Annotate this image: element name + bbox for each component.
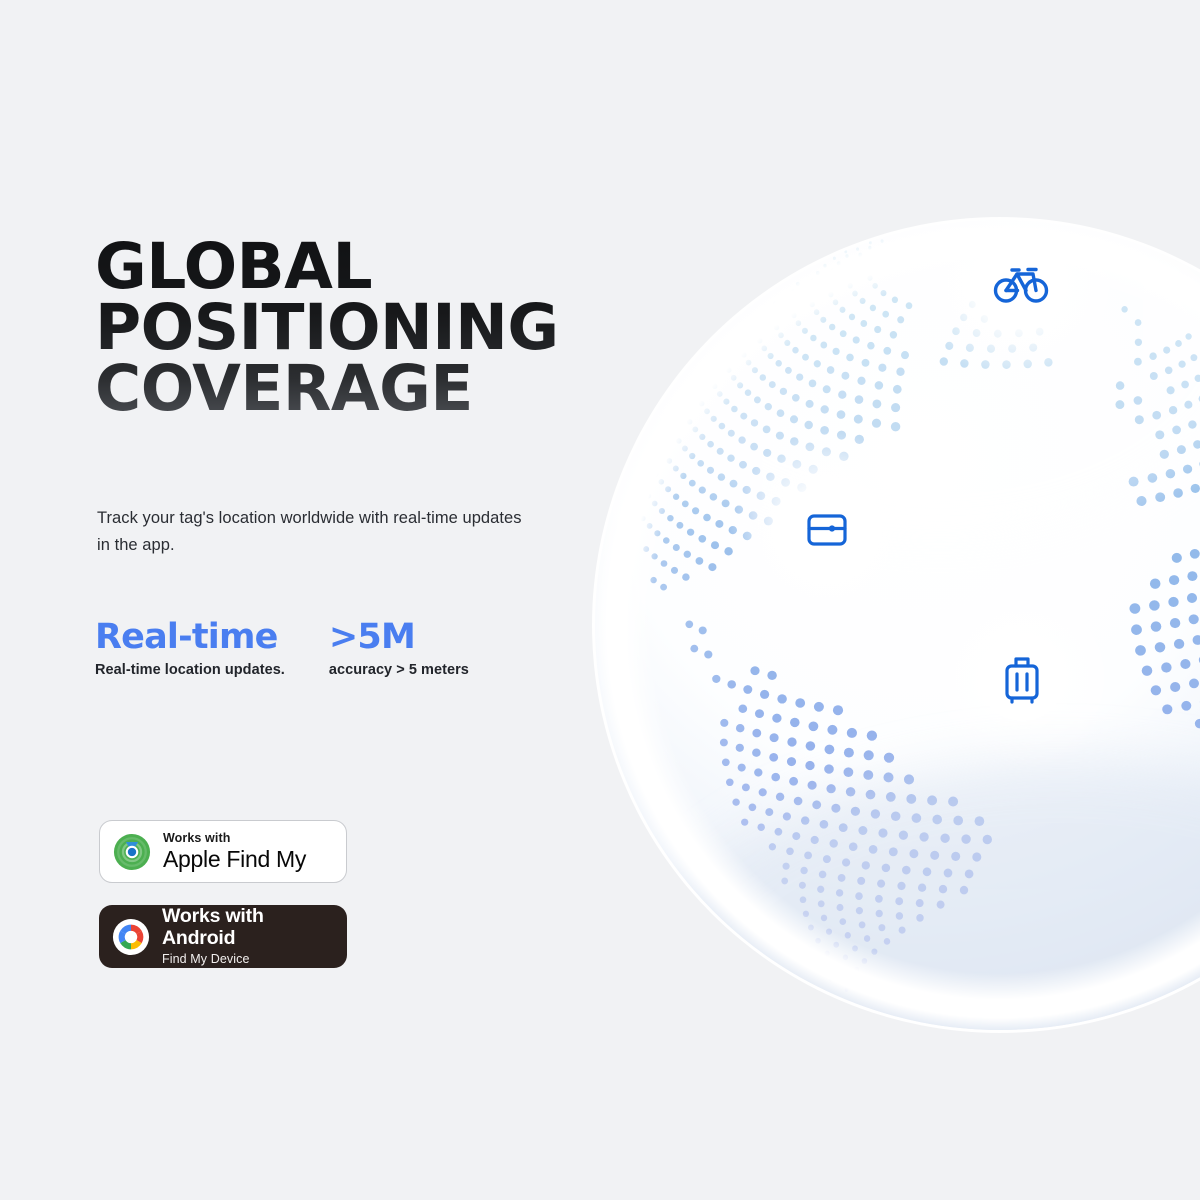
stats-row: Real-time Real-time location updates. >5… (95, 618, 469, 678)
apple-badge-text: Works with Apple Find My (163, 831, 306, 872)
globe-rim-ring (595, 220, 1200, 1030)
suitcase-icon (1007, 659, 1037, 702)
stat-accuracy-value: >5M (329, 618, 469, 657)
globe-outer-glow (592, 217, 1200, 1033)
android-badge-main-line: Works with Android (162, 906, 334, 950)
marker-disc (979, 635, 1065, 721)
stat-accuracy: >5M accuracy > 5 meters (329, 618, 469, 678)
marker-halo-suitcase (926, 582, 1118, 774)
marker-disc (784, 487, 870, 573)
stat-realtime: Real-time Real-time location updates. (95, 618, 285, 678)
apple-badge-main-line: Apple Find My (163, 847, 306, 872)
globe-sphere (595, 220, 1200, 1030)
apple-find-my-radar-icon (113, 833, 151, 871)
headline-line-3: COVERAGE (95, 358, 655, 419)
works-with-apple-find-my-badge[interactable]: Works with Apple Find My (99, 820, 347, 883)
bike-tracker-marker[interactable] (974, 236, 1066, 328)
marker-halo-bike (916, 178, 1124, 386)
page-title: GLOBAL POSITIONING COVERAGE (95, 236, 655, 419)
headline-line-2: POSITIONING (95, 297, 655, 358)
headline-line-1: GLOBAL (95, 236, 655, 297)
globe-bottom-shade (640, 760, 1200, 1200)
globe-dot-map (610, 110, 1200, 1200)
marker-halo-wallet (729, 432, 925, 628)
wallet-tracker-marker[interactable] (784, 487, 870, 573)
wallet-icon (809, 516, 845, 544)
marketing-copy-panel: GLOBAL POSITIONING COVERAGE Track your t… (95, 0, 655, 1200)
subheadline-text: Track your tag's location worldwide with… (97, 505, 537, 558)
android-badge-sub-line: Find My Device (162, 952, 334, 967)
stat-realtime-label: Real-time location updates. (95, 662, 285, 678)
globe-top-highlight (610, 110, 1200, 550)
works-with-android-find-my-device-badge[interactable]: Works with Android Find My Device (99, 905, 347, 968)
android-badge-text: Works with Android Find My Device (162, 906, 334, 968)
bicycle-icon (996, 270, 1047, 302)
stat-accuracy-label: accuracy > 5 meters (329, 662, 469, 678)
marker-disc (974, 236, 1066, 328)
apple-badge-top-line: Works with (163, 831, 306, 845)
luggage-tracker-marker[interactable] (979, 635, 1065, 721)
compatibility-badges: Works with Apple Find My Works with (99, 820, 347, 968)
google-find-my-device-icon (112, 918, 150, 956)
stat-realtime-value: Real-time (95, 618, 285, 657)
